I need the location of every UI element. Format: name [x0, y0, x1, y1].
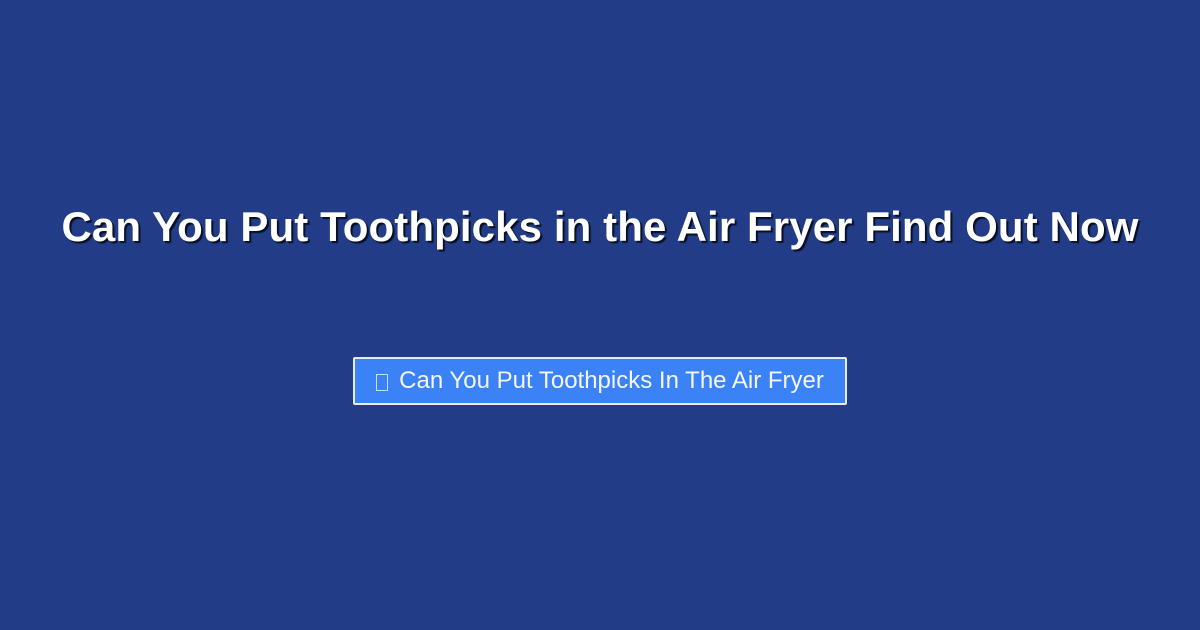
page-title: Can You Put Toothpicks in the Air Fryer … — [0, 196, 1200, 257]
keyword-cta-button[interactable]: Can You Put Toothpicks In The Air Fryer — [353, 357, 847, 405]
title-block: Can You Put Toothpicks in the Air Fryer … — [0, 196, 1200, 257]
missing-glyph-box-icon — [376, 374, 388, 391]
cta-wrapper: Can You Put Toothpicks In The Air Fryer — [0, 357, 1200, 405]
social-share-card: Can You Put Toothpicks in the Air Fryer … — [0, 0, 1200, 630]
keyword-cta-label: Can You Put Toothpicks In The Air Fryer — [399, 369, 824, 393]
